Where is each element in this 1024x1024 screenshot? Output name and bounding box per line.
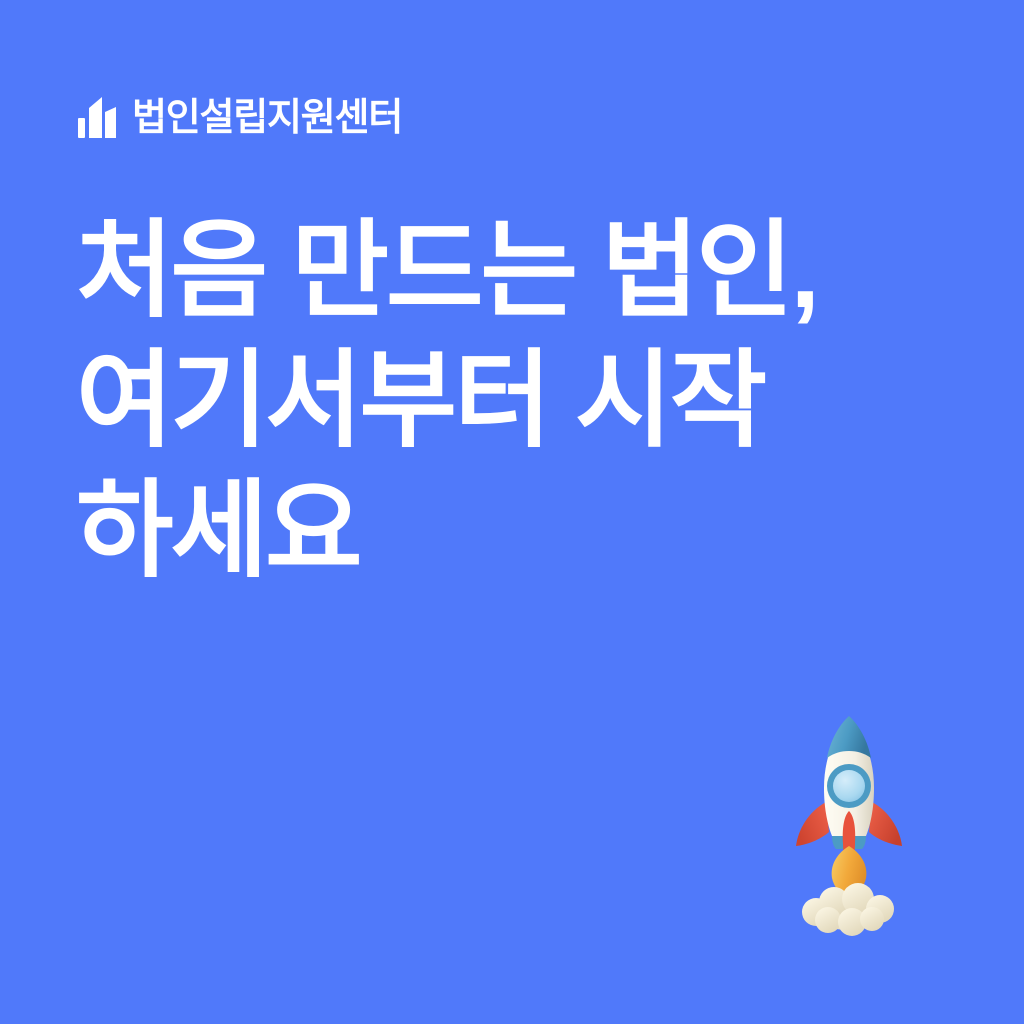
- headline: 처음 만드는 법인, 여기서부터 시작 하세요: [76, 206, 936, 596]
- rocket-launch-illustration: [782, 706, 916, 936]
- rocket-fin-left: [796, 802, 829, 846]
- building-skyline-icon: [78, 96, 118, 140]
- promo-card: 법인설립지원센터 처음 만드는 법인, 여기서부터 시작 하세요: [0, 0, 1024, 1024]
- headline-line-3: 하세요: [76, 466, 936, 596]
- rocket-smoke-cloud: [802, 883, 894, 936]
- brand-lockup: 법인설립지원센터: [78, 92, 402, 144]
- rocket-window-glass: [833, 770, 865, 802]
- headline-line-1: 처음 만드는 법인,: [76, 206, 936, 336]
- rocket-fin-right: [869, 802, 902, 846]
- headline-line-2: 여기서부터 시작: [76, 336, 936, 466]
- brand-name: 법인설립지원센터: [132, 99, 402, 137]
